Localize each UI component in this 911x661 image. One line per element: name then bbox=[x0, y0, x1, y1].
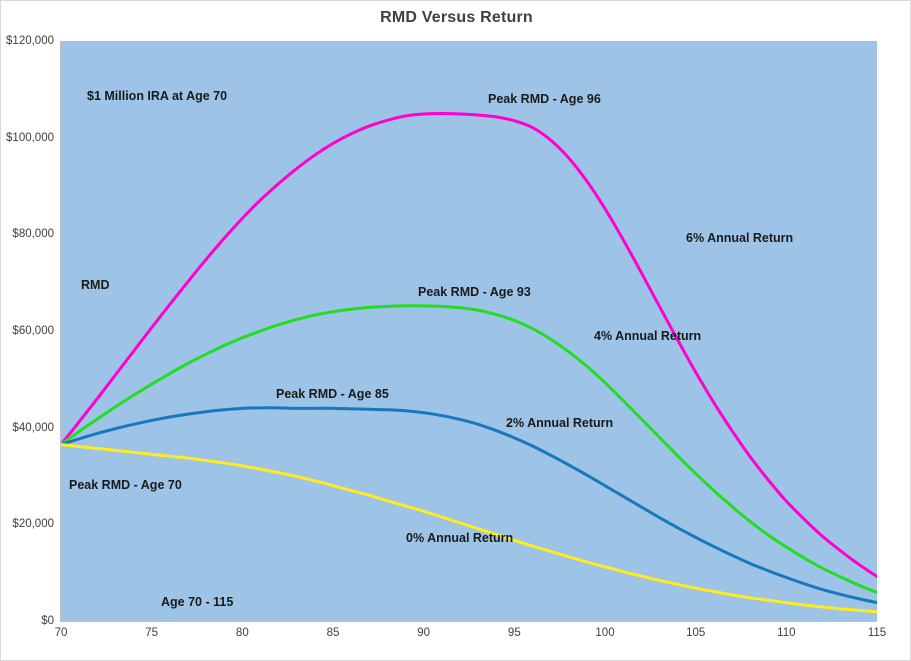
x-axis-tick-label: 115 bbox=[868, 627, 886, 639]
annotation-ret4: 4% Annual Return bbox=[594, 329, 701, 343]
chart-container: RMD Versus Return $0$20,000$40,000$60,00… bbox=[0, 0, 911, 661]
x-axis-tick-label: 85 bbox=[327, 627, 340, 639]
annotation-peak85: Peak RMD - Age 85 bbox=[276, 387, 389, 401]
annotation-rmd: RMD bbox=[81, 278, 109, 292]
annotation-ira: $1 Million IRA at Age 70 bbox=[87, 89, 227, 103]
y-axis-tick-label: $80,000 bbox=[0, 228, 54, 240]
x-axis-tick-label: 90 bbox=[417, 627, 430, 639]
annotation-peak96: Peak RMD - Age 96 bbox=[488, 92, 601, 106]
x-axis-tick-label: 100 bbox=[595, 627, 614, 639]
annotation-ret0: 0% Annual Return bbox=[406, 531, 513, 545]
y-axis-tick-label: $20,000 bbox=[0, 518, 54, 530]
annotation-ret2: 2% Annual Return bbox=[506, 416, 613, 430]
annotation-peak93: Peak RMD - Age 93 bbox=[418, 285, 531, 299]
y-axis-tick-label: $40,000 bbox=[0, 422, 54, 434]
series-line-6-annual-return bbox=[61, 114, 877, 577]
series-line-2-annual-return bbox=[61, 408, 877, 603]
y-axis-tick-label: $100,000 bbox=[0, 132, 54, 144]
series-line-0-annual-return bbox=[61, 445, 877, 612]
chart-title: RMD Versus Return bbox=[1, 9, 911, 27]
series-line-4-annual-return bbox=[61, 306, 877, 593]
x-axis-tick-label: 105 bbox=[686, 627, 705, 639]
x-axis-tick-label: 110 bbox=[777, 627, 795, 639]
y-axis-tick-label: $60,000 bbox=[0, 325, 54, 337]
y-axis-tick-label: $0 bbox=[0, 615, 54, 627]
x-axis-tick-label: 70 bbox=[55, 627, 68, 639]
x-axis-line bbox=[60, 621, 877, 622]
annotation-peak70: Peak RMD - Age 70 bbox=[69, 478, 182, 492]
annotation-agerange: Age 70 - 115 bbox=[161, 595, 233, 609]
y-axis-tick-label: $120,000 bbox=[0, 35, 54, 47]
annotation-ret6: 6% Annual Return bbox=[686, 231, 793, 245]
x-axis-tick-label: 75 bbox=[145, 627, 158, 639]
x-axis-tick-label: 95 bbox=[508, 627, 521, 639]
x-axis-tick-label: 80 bbox=[236, 627, 249, 639]
